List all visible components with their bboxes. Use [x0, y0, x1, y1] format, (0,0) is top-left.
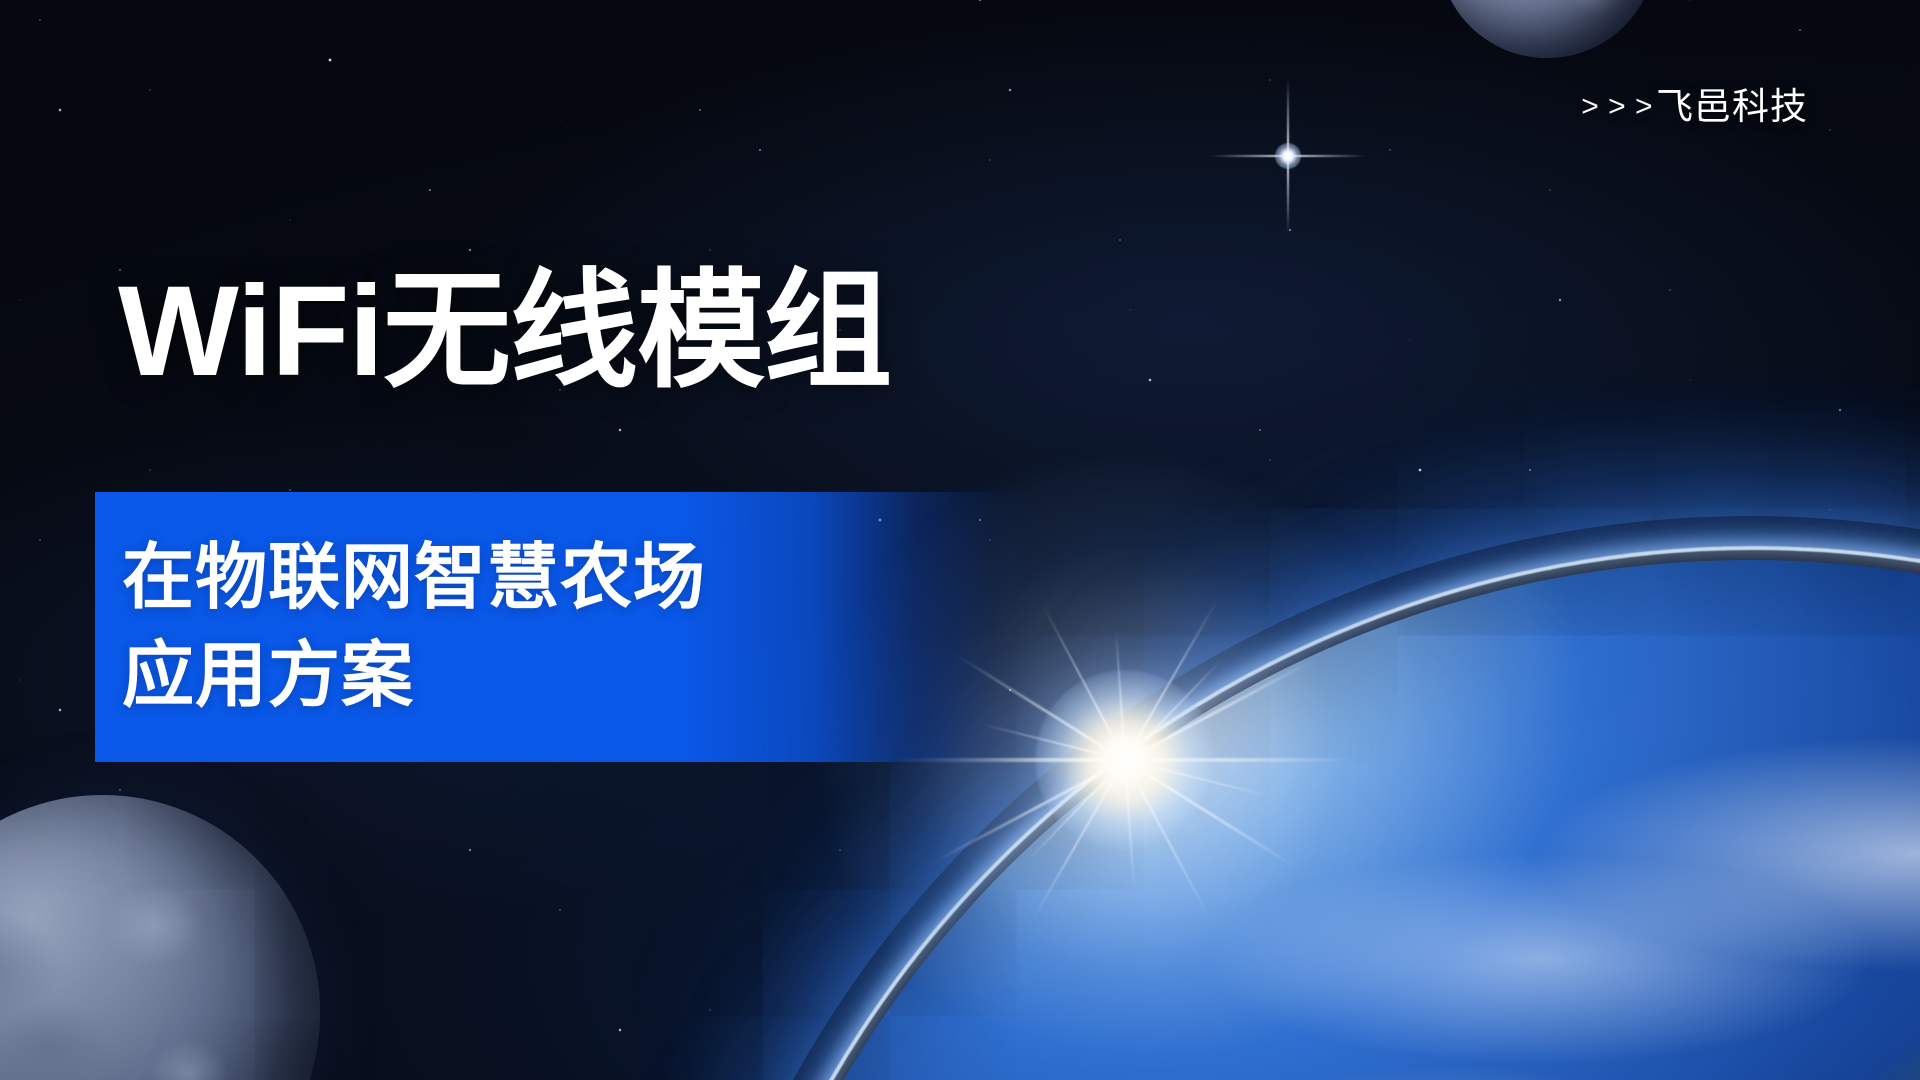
subtitle-panel	[95, 492, 1040, 762]
sparkle-core	[1275, 143, 1301, 169]
brand-name: 飞邑科技	[1656, 88, 1808, 125]
chevron-right-icon: > > >	[1581, 92, 1653, 122]
brand-logo: > > > 飞邑科技	[1581, 88, 1808, 125]
page-title: WiFi无线模组	[118, 268, 891, 396]
flare-core	[1035, 670, 1215, 850]
poster-canvas: > > > 飞邑科技 WiFi无线模组 在物联网智慧农场 应用方案	[0, 0, 1920, 1080]
